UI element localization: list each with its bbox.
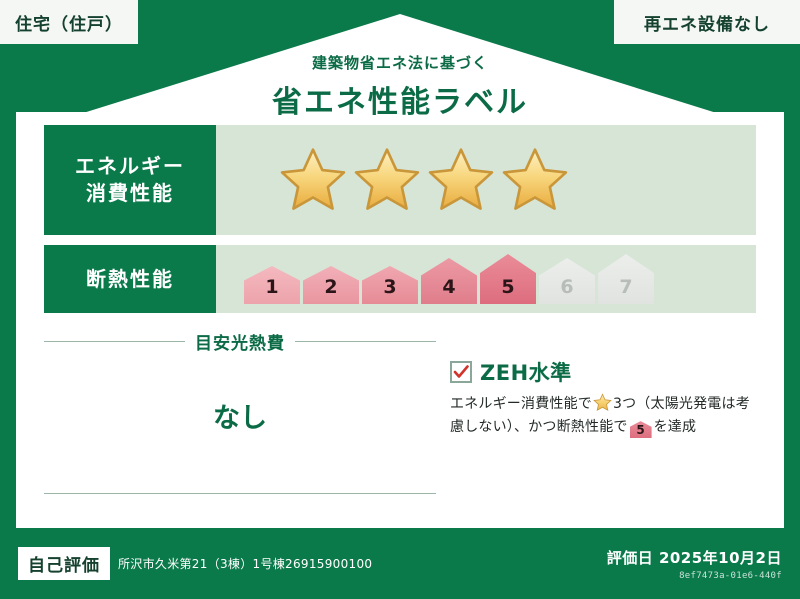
evaluation-hash: 8ef7473a-01e6-440f	[607, 571, 782, 581]
energy-label-line2: 消費性能	[86, 180, 174, 207]
renewable-equipment-badge: 再エネ設備なし	[612, 0, 800, 46]
evaluation-subject: 所沢市久米第21（3棟）1号棟26915900100	[118, 555, 372, 572]
insulation-level-inline-badge: 5	[630, 421, 652, 438]
zeh-title: ZEH水準	[480, 357, 572, 387]
building-type-badge: 住宅（住戸）	[0, 0, 140, 46]
energy-label-line1: エネルギー	[75, 153, 185, 180]
label-footer: 自己評価 所沢市久米第21（3棟）1号棟26915900100 評価日 2025…	[0, 528, 800, 599]
utility-cost-value: なし	[44, 396, 436, 435]
rule-right	[295, 341, 436, 342]
insulation-level-chip-6: 6	[539, 258, 595, 304]
insulation-level-chip-7: 7	[598, 254, 654, 304]
utility-cost-heading: 目安光熱費	[195, 329, 285, 354]
insulation-level-chip-4: 4	[421, 258, 477, 304]
energy-performance-value	[216, 125, 756, 235]
footer-right: 評価日 2025年10月2日 8ef7473a-01e6-440f	[607, 547, 782, 581]
star-icon-inline	[593, 393, 612, 412]
star-icon	[278, 145, 348, 215]
energy-performance-row: エネルギー 消費性能	[44, 125, 756, 235]
insulation-level-chip-3: 3	[362, 266, 418, 304]
insulation-level-scale: 1234567	[216, 254, 654, 304]
insulation-level-chip-5: 5	[480, 254, 536, 304]
lower-section: 目安光熱費 なし ZEH水準 エネルギー消費性能で3つ（太陽光発電は考慮しな	[44, 329, 756, 494]
title-subtitle: 建築物省エネ法に基づく	[0, 52, 800, 73]
insulation-level-chip-1: 1	[244, 266, 300, 304]
star-icon	[500, 145, 570, 215]
zeh-header: ZEH水準	[450, 357, 756, 387]
check-icon	[453, 364, 469, 380]
insulation-level-chip-2: 2	[303, 266, 359, 304]
evaluation-type-badge: 自己評価	[18, 547, 110, 580]
insulation-performance-label: 断熱性能	[44, 245, 216, 313]
insulation-performance-row: 断熱性能 1234567	[44, 245, 756, 313]
footer-left: 自己評価 所沢市久米第21（3棟）1号棟26915900100	[18, 547, 372, 580]
zeh-checkbox[interactable]	[450, 361, 472, 383]
evaluation-date: 評価日 2025年10月2日	[607, 547, 782, 568]
title-block: 建築物省エネ法に基づく 省エネ性能ラベル	[0, 52, 800, 121]
evaluation-date-value: 2025年10月2日	[659, 549, 782, 567]
utility-cost-section: 目安光熱費 なし	[44, 329, 436, 494]
zeh-description: エネルギー消費性能で3つ（太陽光発電は考慮しない）、かつ断熱性能で5を達成	[450, 393, 756, 439]
metrics-panel: エネルギー 消費性能 断熱性能 1234567 目安光熱費	[44, 125, 756, 494]
page-title: 省エネ性能ラベル	[0, 77, 800, 121]
zeh-desc-part3: を達成	[654, 419, 697, 435]
energy-performance-label: エネルギー 消費性能	[44, 125, 216, 235]
zeh-desc-part1: エネルギー消費性能で	[450, 396, 592, 412]
utility-cost-bottom-rule	[44, 493, 436, 494]
rule-left	[44, 341, 185, 342]
insulation-label-text: 断熱性能	[86, 266, 174, 293]
star-icon	[352, 145, 422, 215]
utility-cost-header: 目安光熱費	[44, 329, 436, 354]
star-icon	[426, 145, 496, 215]
energy-performance-label: 住宅（住戸） 再エネ設備なし 建築物省エネ法に基づく 省エネ性能ラベル エネルギ…	[0, 0, 800, 599]
zeh-section: ZEH水準 エネルギー消費性能で3つ（太陽光発電は考慮しない）、かつ断熱性能で5…	[436, 329, 756, 494]
insulation-performance-value: 1234567	[216, 245, 756, 313]
evaluation-date-label: 評価日	[607, 549, 654, 567]
star-rating	[216, 145, 570, 215]
